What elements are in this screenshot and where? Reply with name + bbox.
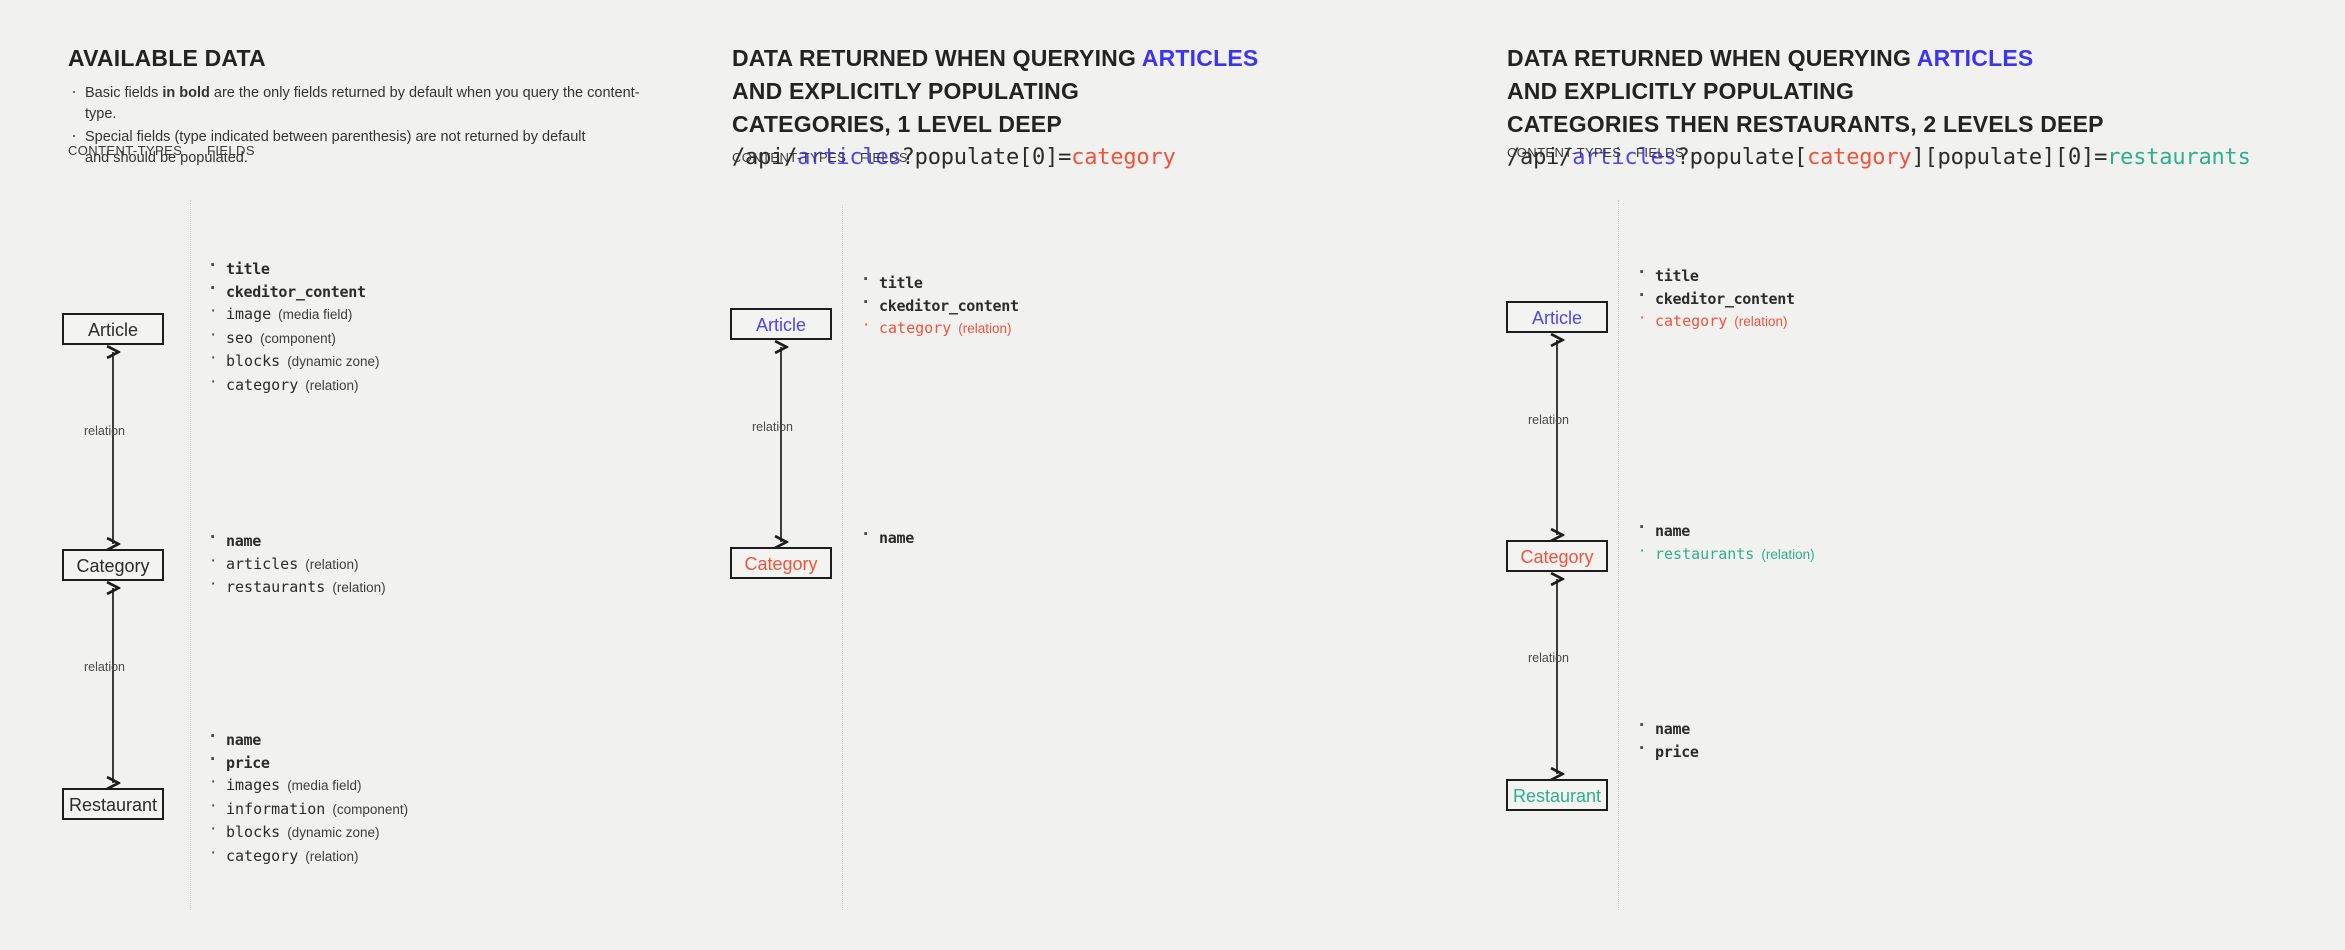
field-row: category(relation)	[1636, 310, 1795, 334]
relation-arrows	[720, 0, 1485, 950]
field-row: category(relation)	[860, 317, 1019, 341]
field-type: (relation)	[332, 580, 385, 595]
field-row: images(media field)	[207, 774, 408, 798]
heading-text: AVAILABLE DATA	[68, 45, 266, 71]
field-group-category: name restaurants(relation)	[1636, 520, 1815, 566]
field-type: (relation)	[305, 378, 358, 393]
relation-label: relation	[1528, 651, 1569, 665]
column-heading: DATA RETURNED WHEN QUERYING ARTICLES AND…	[1507, 42, 2104, 141]
label-content-types: CONTENT-TYPES	[1507, 145, 1621, 160]
field-row: ckeditor_content	[860, 295, 1019, 318]
column-two-levels-deep: DATA RETURNED WHEN QUERYING ARTICLES AND…	[1485, 0, 2345, 950]
label-content-types: CONTENT-TYPES	[732, 150, 846, 165]
url-token: ?populate[	[1677, 145, 1807, 170]
field-type: (relation)	[305, 557, 358, 572]
field-type: (relation)	[1761, 547, 1814, 562]
relation-label: relation	[84, 424, 125, 438]
field-row: category(relation)	[207, 845, 408, 869]
note-item: Basic fields in bold are the only fields…	[68, 83, 668, 125]
field-row: price	[207, 752, 408, 775]
url-token-category: category	[1807, 145, 1911, 170]
column-available-data: AVAILABLE DATA Basic fields in bold are …	[0, 0, 720, 950]
field-type: (dynamic zone)	[287, 825, 379, 840]
column-divider	[842, 205, 843, 910]
relation-label: relation	[84, 660, 125, 674]
column-divider	[1618, 200, 1619, 910]
field-row: name	[1636, 718, 1699, 741]
field-group-restaurant: name price images(media field) informati…	[207, 729, 408, 868]
field-type: (component)	[332, 802, 408, 817]
field-row: name	[207, 530, 386, 553]
content-type-box-restaurant[interactable]: Restaurant	[1506, 779, 1608, 811]
relation-label: relation	[1528, 413, 1569, 427]
diagram-page: AVAILABLE DATA Basic fields in bold are …	[0, 0, 2345, 950]
content-type-box-restaurant[interactable]: Restaurant	[62, 788, 164, 820]
field-group-restaurant: name price	[1636, 718, 1699, 763]
column-heading: AVAILABLE DATA	[68, 42, 266, 75]
field-type: (component)	[260, 331, 336, 346]
heading-line2: AND EXPLICITLY POPULATING	[732, 78, 1079, 104]
url-token: ][populate][0]=	[1911, 145, 2107, 170]
content-type-box-article[interactable]: Article	[62, 313, 164, 345]
content-type-box-article[interactable]: Article	[730, 308, 832, 340]
field-row: restaurants(relation)	[1636, 543, 1815, 567]
field-row: seo(component)	[207, 327, 379, 351]
field-row: information(component)	[207, 798, 408, 822]
heading-line2: AND EXPLICITLY POPULATING	[1507, 78, 1854, 104]
field-type: (media field)	[278, 307, 352, 322]
note-bold: in bold	[162, 85, 210, 101]
url-token: ?populate[0]=	[902, 145, 1072, 170]
field-row: category(relation)	[207, 374, 379, 398]
field-type: (relation)	[305, 849, 358, 864]
url-token-category: category	[1071, 145, 1175, 170]
field-row: blocks(dynamic zone)	[207, 350, 379, 374]
field-row: restaurants(relation)	[207, 576, 386, 600]
relation-arrows	[1485, 0, 2345, 950]
content-type-box-article[interactable]: Article	[1506, 301, 1608, 333]
field-row: ckeditor_content	[207, 281, 379, 304]
heading-highlight: ARTICLES	[1142, 45, 1259, 71]
label-fields: FIELDS	[207, 143, 255, 158]
url-token-restaurants: restaurants	[2107, 145, 2251, 170]
content-type-box-category[interactable]: Category	[62, 549, 164, 581]
field-row: title	[1636, 265, 1795, 288]
field-row: name	[207, 729, 408, 752]
field-row: name	[860, 527, 914, 550]
field-group-category: name articles(relation) restaurants(rela…	[207, 530, 386, 600]
heading-pre: DATA RETURNED WHEN QUERYING	[732, 45, 1142, 71]
relation-label: relation	[752, 420, 793, 434]
heading-pre: DATA RETURNED WHEN QUERYING	[1507, 45, 1917, 71]
field-group-article: title ckeditor_content category(relation…	[1636, 265, 1795, 334]
field-row: title	[207, 258, 379, 281]
field-row: blocks(dynamic zone)	[207, 821, 408, 845]
field-type: (relation)	[958, 321, 1011, 336]
field-group-article: title ckeditor_content category(relation…	[860, 272, 1019, 341]
heading-line3: CATEGORIES, 1 LEVEL DEEP	[732, 111, 1062, 137]
field-row: image(media field)	[207, 303, 379, 327]
field-row: price	[1636, 741, 1699, 764]
content-type-box-category[interactable]: Category	[1506, 540, 1608, 572]
column-one-level-deep: DATA RETURNED WHEN QUERYING ARTICLES AND…	[720, 0, 1485, 950]
content-type-box-category[interactable]: Category	[730, 547, 832, 579]
field-row: articles(relation)	[207, 553, 386, 577]
label-fields: FIELDS	[860, 150, 908, 165]
label-content-types: CONTENT-TYPES	[68, 143, 182, 158]
heading-line3: CATEGORIES THEN RESTAURANTS, 2 LEVELS DE…	[1507, 111, 2104, 137]
heading-highlight: ARTICLES	[1917, 45, 2034, 71]
field-type: (media field)	[287, 778, 361, 793]
field-row: title	[860, 272, 1019, 295]
field-group-category: name	[860, 527, 914, 550]
field-group-article: title ckeditor_content image(media field…	[207, 258, 379, 397]
field-type: (dynamic zone)	[287, 354, 379, 369]
field-row: ckeditor_content	[1636, 288, 1795, 311]
column-heading: DATA RETURNED WHEN QUERYING ARTICLES AND…	[732, 42, 1258, 141]
field-row: name	[1636, 520, 1815, 543]
column-divider	[190, 200, 191, 910]
label-fields: FIELDS	[1636, 145, 1684, 160]
field-type: (relation)	[1734, 314, 1787, 329]
